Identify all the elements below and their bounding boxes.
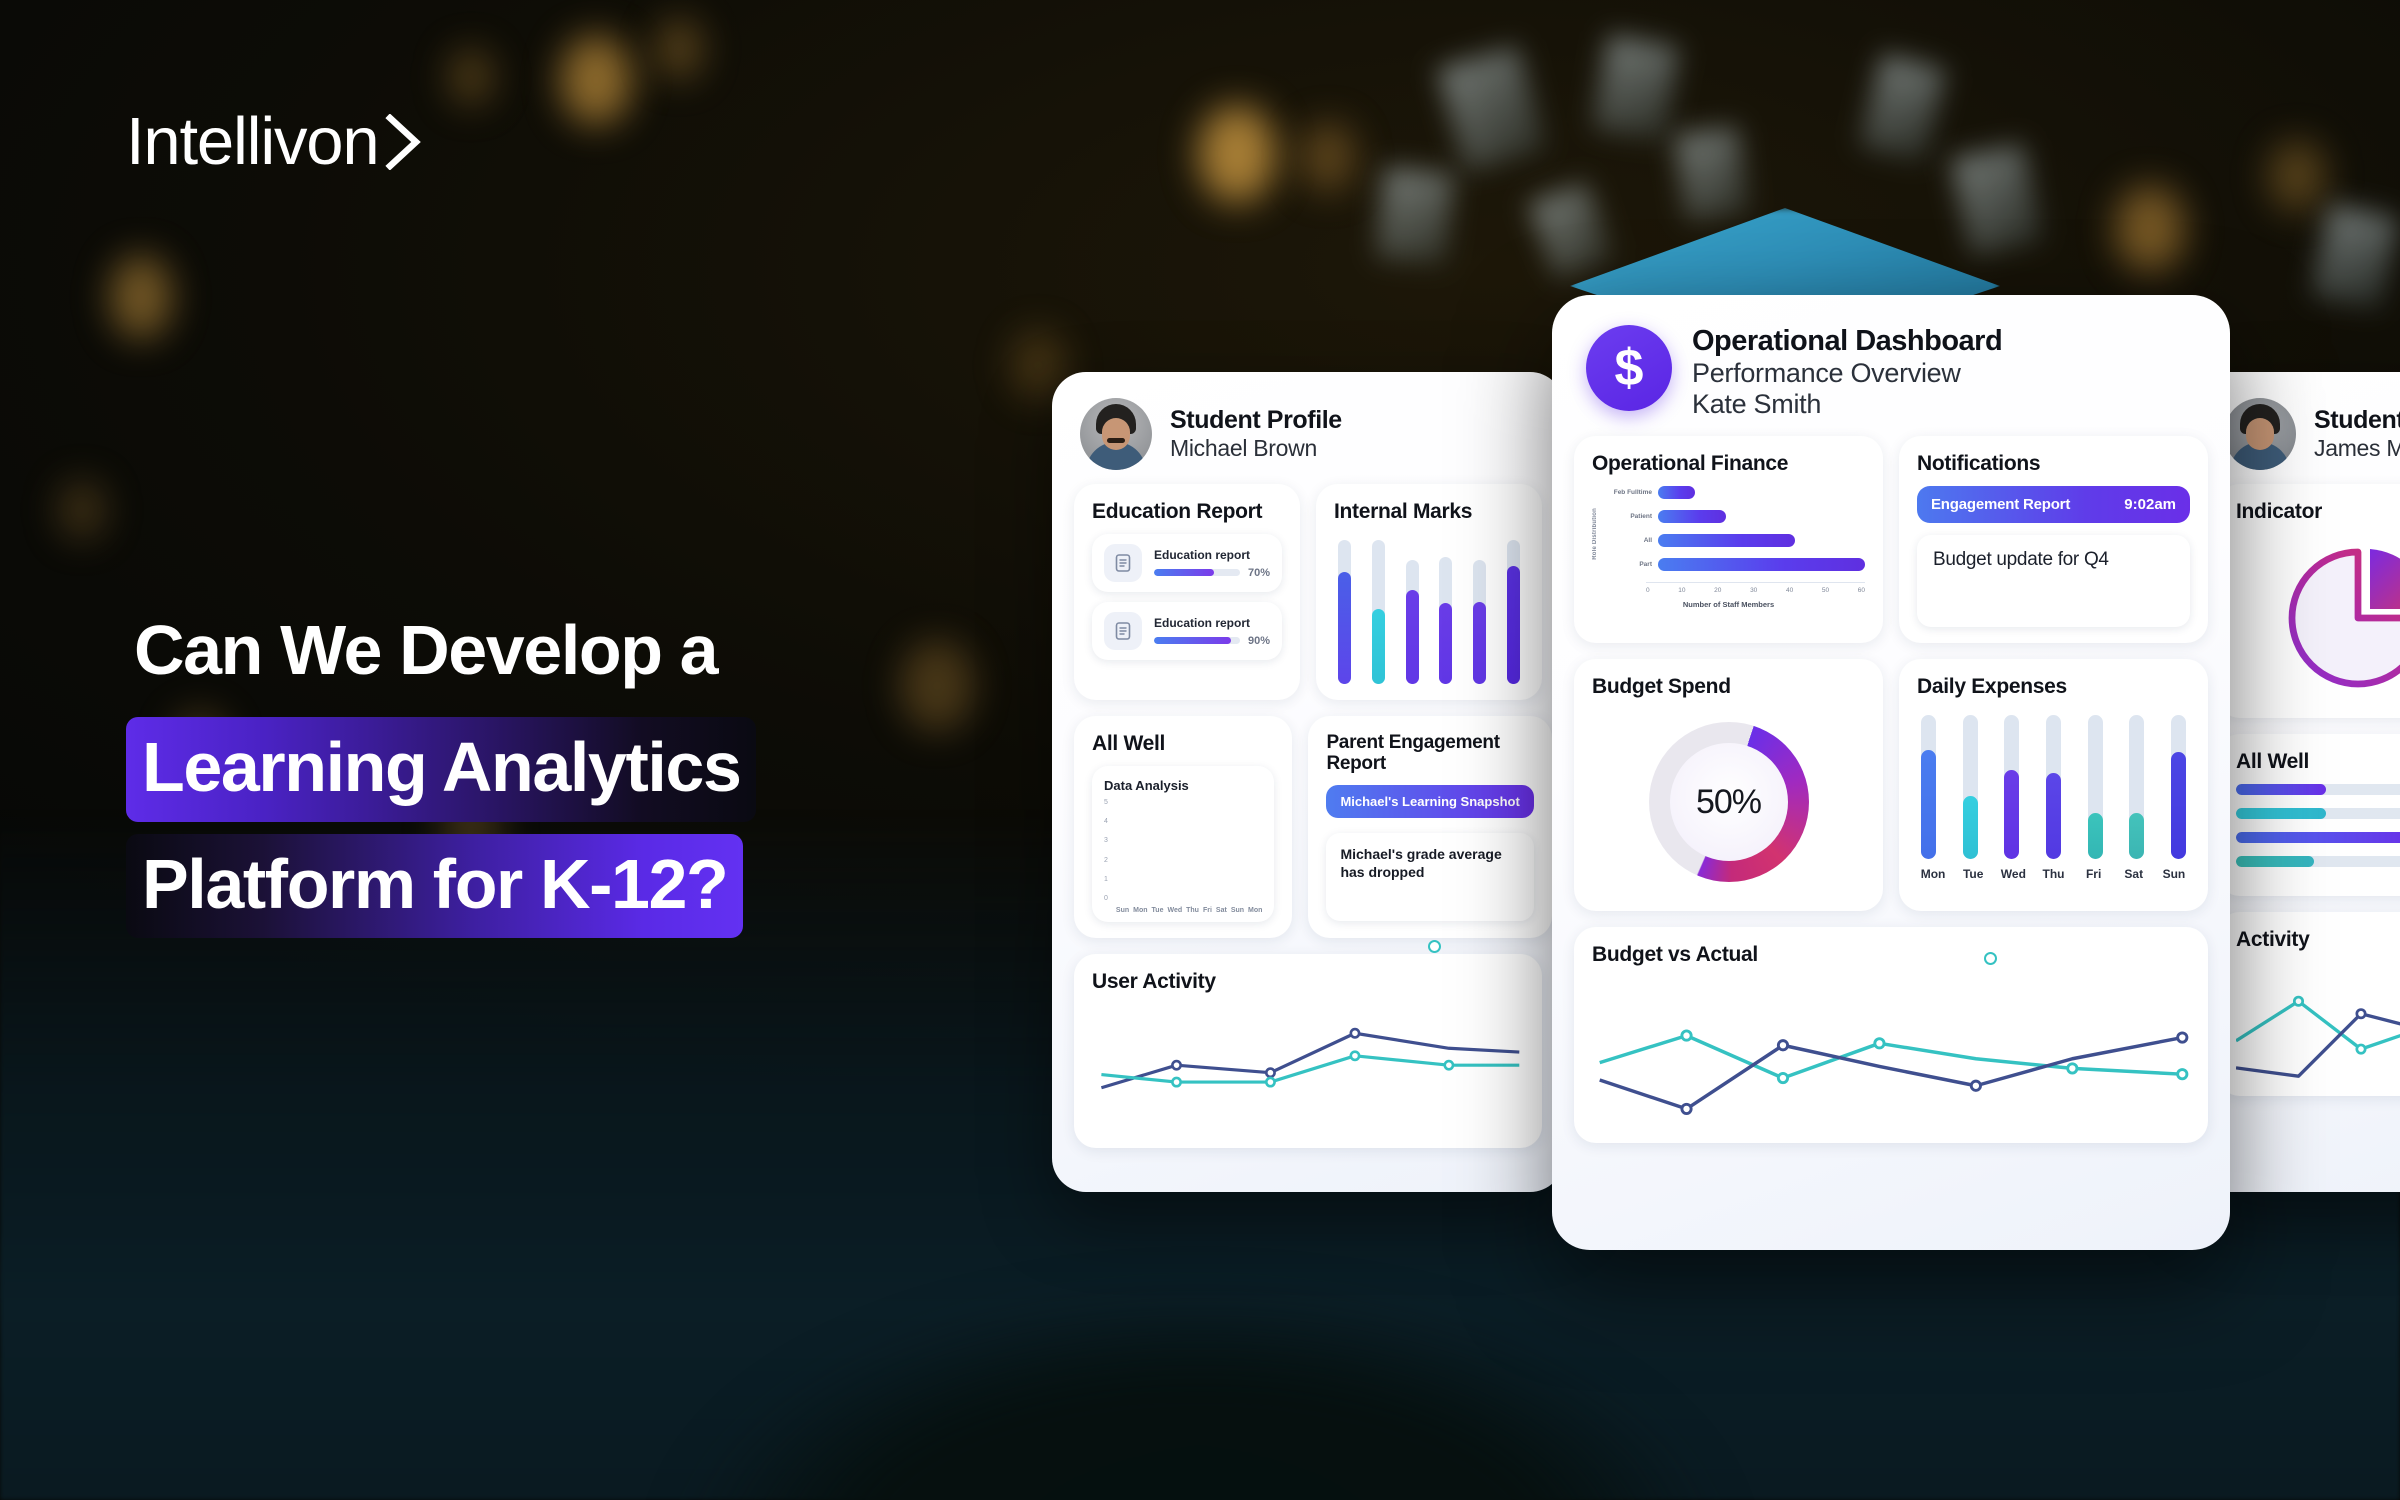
internal-marks-bar-chart (1334, 534, 1524, 684)
daily-expenses-tile[interactable]: Daily Expenses Mon Tue Wed Thu Fri S (1899, 659, 2208, 911)
dashboard-user: Kate Smith (1692, 389, 2002, 420)
dashboard-header: $ Operational Dashboard Performance Over… (1552, 295, 2230, 436)
activity-title-right: Activity (2236, 928, 2400, 952)
indicator-pie-chart (2236, 534, 2400, 702)
avatar (2224, 398, 2296, 470)
notifications-title: Notifications (1917, 452, 2190, 476)
user-activity-line-chart (1092, 1004, 1524, 1132)
budget-spend-tile[interactable]: Budget Spend 50% (1574, 659, 1883, 911)
internal-marks-title: Internal Marks (1334, 500, 1524, 524)
notifications-tile[interactable]: Notifications Engagement Report 9:02am B… (1899, 436, 2208, 643)
operational-finance-bar-chart: Role Distribution Feb Fulltime Patient A… (1592, 486, 1865, 582)
brand-logo[interactable]: Intellivon (126, 108, 424, 175)
progress-percent: 70% (1248, 567, 1270, 579)
table-row[interactable]: Education report 70% (1092, 534, 1282, 592)
report-label: Education report (1154, 616, 1270, 630)
operational-dashboard-card[interactable]: $ Operational Dashboard Performance Over… (1552, 295, 2230, 1250)
budget-vs-actual-line-chart (1592, 977, 2190, 1127)
left-card-row-1: Education Report Education report 70% (1052, 484, 1564, 700)
x-axis-ticks: Sun Mon Tue Wed Thu Fri Sat Sun Mon (1116, 903, 1263, 914)
dashboard-title: Operational Dashboard (1692, 325, 2002, 358)
table-row: Part (1604, 558, 1865, 571)
budget-spend-title: Budget Spend (1592, 675, 1865, 699)
headline-line-2: Learning Analytics (126, 717, 756, 822)
data-analysis-chart: Data Analysis 5 4 3 2 1 0 (1092, 766, 1274, 922)
donut-ring: 50% (1649, 722, 1809, 882)
report-label: Education report (1154, 548, 1270, 562)
profile-title: Student Profile (2314, 406, 2400, 435)
user-activity-tile[interactable]: User Activity (1074, 954, 1542, 1148)
table-row: All (1604, 534, 1865, 547)
chart-point-indicator (1428, 940, 1441, 953)
avatar (1080, 398, 1152, 470)
message-box: Michael's grade average has dropped (1326, 833, 1533, 921)
daily-expenses-title: Daily Expenses (1917, 675, 2190, 699)
all-well-tile[interactable]: All Well Data Analysis 5 4 3 2 1 0 (1074, 716, 1292, 938)
indicator-tile[interactable]: Indicator (2218, 484, 2400, 718)
all-well-title-right: All Well (2236, 750, 2400, 774)
profile-header: Student Profile Michael Brown (1052, 372, 1564, 484)
budget-spend-value: 50% (1696, 783, 1761, 822)
scene: Intellivon Can We Develop a Learning Ana… (0, 0, 2400, 1500)
bars (1116, 799, 1263, 903)
center-card-row-1: Operational Finance Role Distribution Fe… (1552, 436, 2230, 643)
chart-point-indicator (1984, 952, 1997, 965)
dollar-icon: $ (1586, 325, 1672, 411)
dollar-symbol: $ (1615, 342, 1644, 394)
list-item (2236, 832, 2400, 843)
center-card-row-2: Budget Spend 50% Daily Expenses (1552, 659, 2230, 911)
progress-track (1154, 569, 1240, 576)
student-profile-card-left[interactable]: Student Profile Michael Brown Education … (1052, 372, 1564, 1192)
profile-name: James McCul (2314, 435, 2400, 462)
parent-engagement-title: Parent Engagement Report (1326, 732, 1533, 775)
list-item (2236, 784, 2400, 795)
list-item (2236, 808, 2400, 819)
y-axis-ticks: 5 4 3 2 1 0 (1104, 799, 1108, 914)
activity-line-chart-right (2236, 962, 2400, 1080)
progress-percent: 90% (1248, 635, 1270, 647)
user-activity-title: User Activity (1092, 970, 1524, 994)
profile-title: Student Profile (1170, 406, 1342, 435)
budget-vs-actual-title: Budget vs Actual (1592, 943, 2190, 967)
bar-category: All (1604, 537, 1652, 544)
list-item (2236, 856, 2400, 867)
table-row[interactable]: Education report 90% (1092, 602, 1282, 660)
dashboard-subtitle: Performance Overview (1692, 358, 2002, 389)
chevron-right-icon (382, 114, 424, 170)
bar-category: Patient (1604, 513, 1652, 520)
operational-finance-tile[interactable]: Operational Finance Role Distribution Fe… (1574, 436, 1883, 643)
all-well-tile-right[interactable]: All Well (2218, 734, 2400, 896)
parent-engagement-tile[interactable]: Parent Engagement Report Michael's Learn… (1308, 716, 1551, 938)
progress-track (1154, 637, 1240, 644)
daily-expenses-bar-chart (1917, 709, 2190, 859)
document-icon (1104, 612, 1142, 650)
daily-expenses-x-labels: Mon Tue Wed Thu Fri Sat Sun (1917, 859, 2190, 881)
data-analysis-title: Data Analysis (1104, 778, 1262, 793)
notification-label: Budget update for Q4 (1933, 549, 2174, 571)
x-axis-label: Number of Staff Members (1592, 600, 1865, 609)
activity-tile-right[interactable]: Activity (2218, 912, 2400, 1096)
headline-line-1: Can We Develop a (126, 600, 725, 705)
bar-category: Part (1604, 561, 1652, 568)
x-axis-ticks: 0 10 20 30 40 50 60 (1646, 582, 1865, 594)
brand-name: Intellivon (126, 108, 378, 175)
status-badge[interactable]: Michael's Learning Snapshot (1326, 785, 1533, 818)
page-title: Can We Develop a Learning Analytics Plat… (126, 600, 1106, 950)
pie-icon (2286, 543, 2400, 693)
all-well-progress-list (2236, 784, 2400, 867)
notification-item-budget[interactable]: Budget update for Q4 (1917, 535, 2190, 627)
profile-name: Michael Brown (1170, 435, 1342, 462)
education-report-tile[interactable]: Education Report Education report 70% (1074, 484, 1300, 700)
notification-time: 9:02am (2124, 496, 2176, 513)
left-card-row-2: All Well Data Analysis 5 4 3 2 1 0 (1052, 716, 1564, 938)
y-axis-label: Role Distribution (1592, 508, 1598, 560)
internal-marks-tile[interactable]: Internal Marks (1316, 484, 1542, 700)
message-text: Michael's grade average has dropped (1340, 845, 1519, 883)
budget-vs-actual-tile[interactable]: Budget vs Actual (1574, 927, 2208, 1143)
notification-item-engagement[interactable]: Engagement Report 9:02am (1917, 486, 2190, 523)
all-well-title: All Well (1092, 732, 1274, 756)
notification-label: Engagement Report (1931, 496, 2070, 513)
document-icon (1104, 544, 1142, 582)
operational-finance-title: Operational Finance (1592, 452, 1865, 476)
table-row: Feb Fulltime (1604, 486, 1865, 499)
education-report-title: Education Report (1092, 500, 1282, 524)
indicator-title: Indicator (2236, 500, 2400, 524)
budget-spend-donut-chart: 50% (1592, 709, 1865, 895)
headline-line-3: Platform for K-12? (126, 834, 743, 939)
table-row: Patient (1604, 510, 1865, 523)
bar-category: Feb Fulltime (1604, 489, 1652, 496)
